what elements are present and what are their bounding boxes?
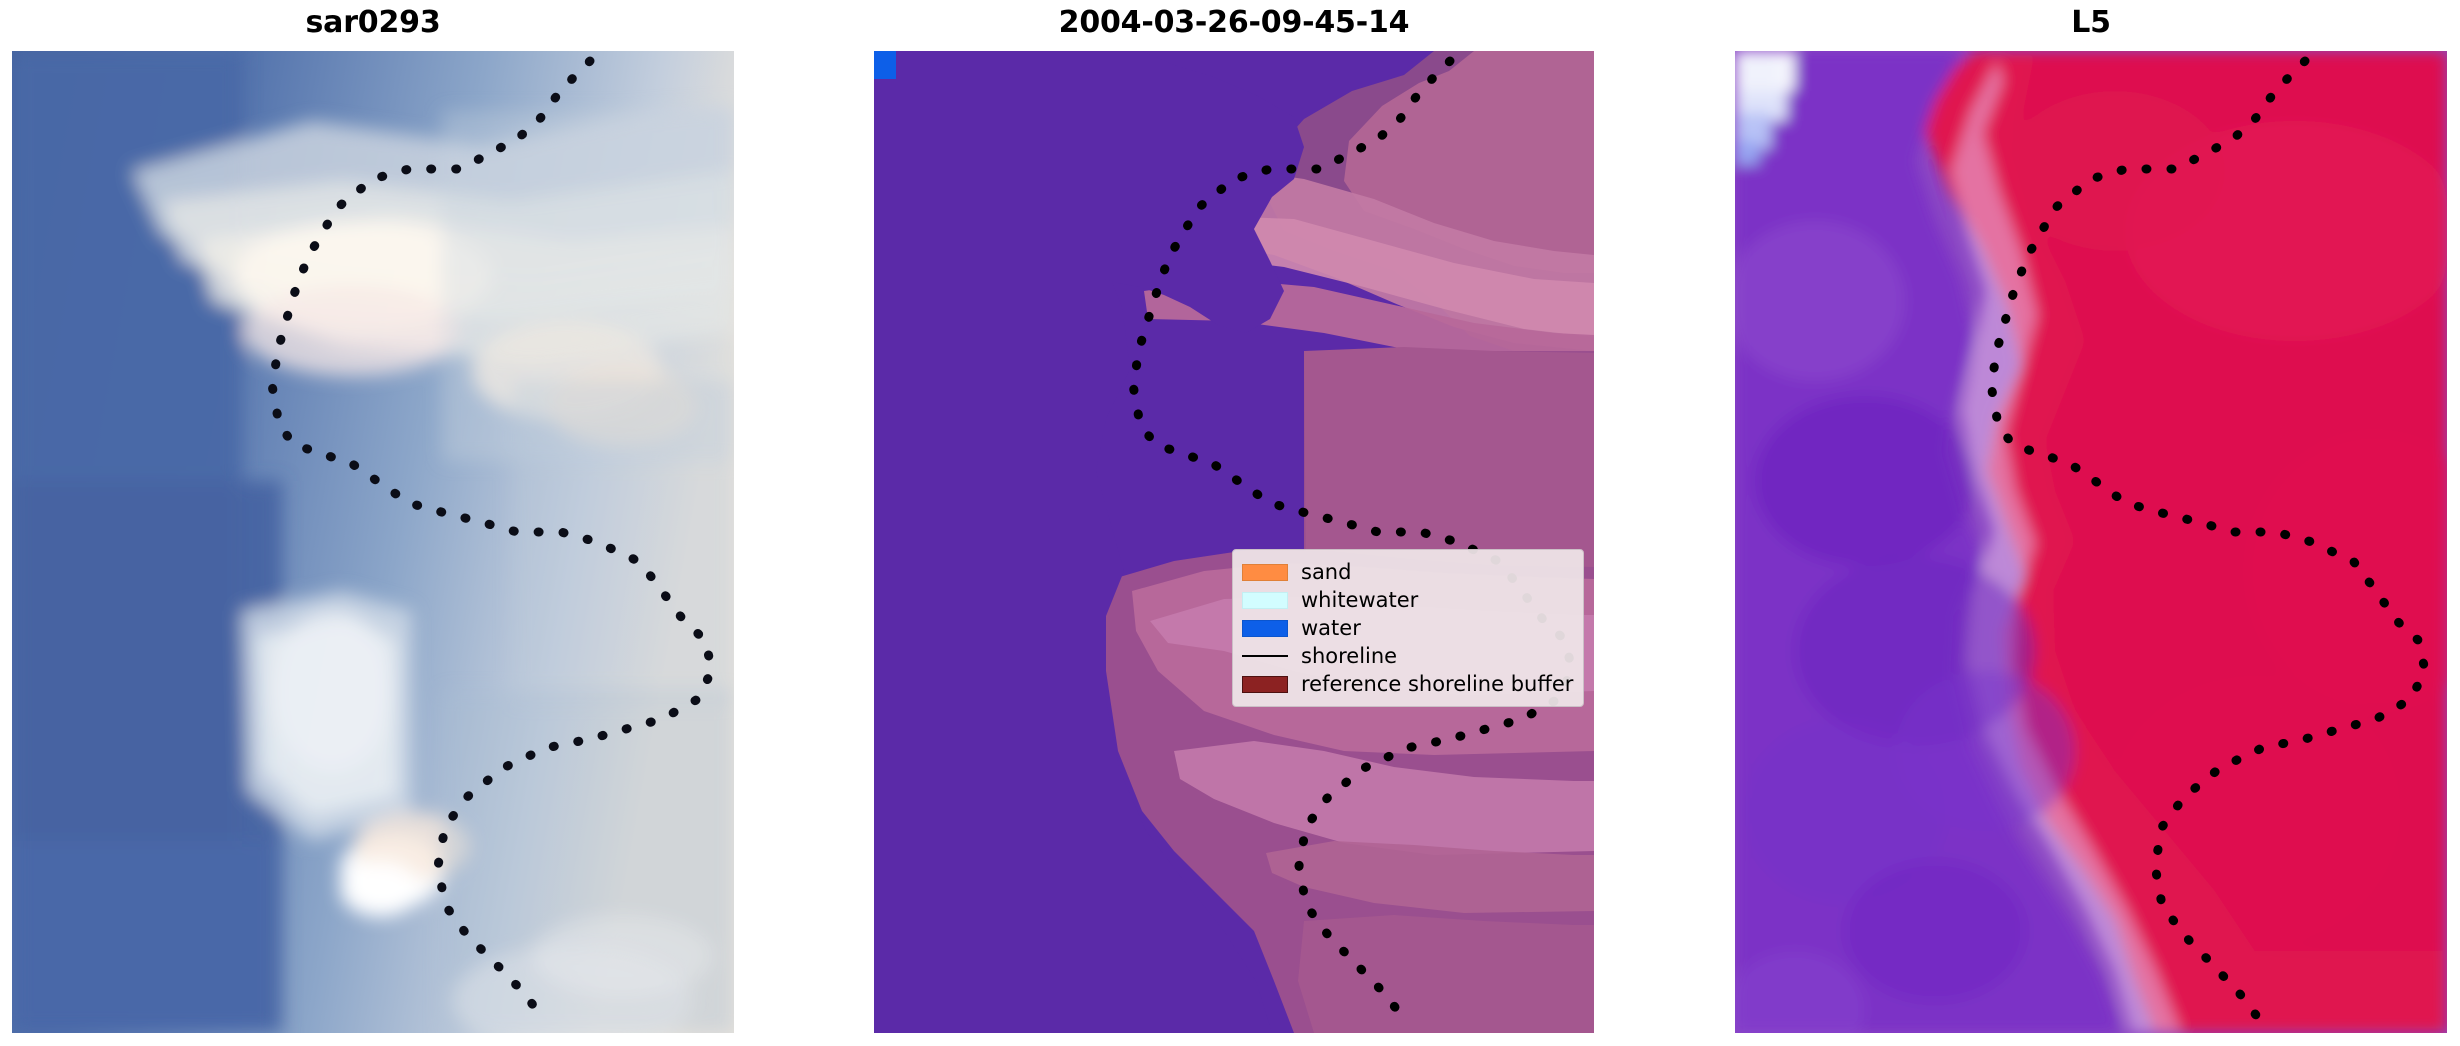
- legend-item-shoreline[interactable]: shoreline: [1242, 642, 1573, 670]
- legend-item-reference-buffer[interactable]: reference shoreline buffer: [1242, 670, 1573, 698]
- panel-sar0293: sar0293: [12, 0, 734, 1046]
- sar-shoreline-overlay: [12, 51, 734, 1033]
- water-swatch-icon: [1242, 620, 1288, 637]
- panel-title-sar: sar0293: [12, 6, 734, 40]
- sand-swatch-icon: [1242, 564, 1288, 581]
- panel-classification: 2004-03-26-09-45-14: [874, 0, 1594, 1046]
- axes-l5[interactable]: [1735, 51, 2447, 1033]
- legend-label-reference-buffer: reference shoreline buffer: [1301, 674, 1573, 695]
- legend-box[interactable]: sand whitewater water shoreline referenc…: [1232, 549, 1584, 707]
- reference-buffer-swatch-icon: [1242, 676, 1288, 693]
- legend-item-whitewater[interactable]: whitewater: [1242, 586, 1573, 614]
- legend-label-whitewater: whitewater: [1301, 590, 1418, 611]
- l5-shoreline-overlay: [1735, 51, 2447, 1033]
- shoreline-polyline: [272, 61, 712, 1023]
- whitewater-swatch-icon: [1242, 592, 1288, 609]
- legend-item-water[interactable]: water: [1242, 614, 1573, 642]
- panel-title-classification: 2004-03-26-09-45-14: [874, 6, 1594, 40]
- panel-title-l5: L5: [1735, 6, 2447, 40]
- axes-sar[interactable]: [12, 51, 734, 1033]
- legend-item-sand[interactable]: sand: [1242, 558, 1573, 586]
- figure-canvas: sar0293: [0, 0, 2460, 1046]
- legend-label-water: water: [1301, 618, 1361, 639]
- legend-label-sand: sand: [1301, 562, 1351, 583]
- axes-classification[interactable]: sand whitewater water shoreline referenc…: [874, 51, 1594, 1033]
- shoreline-polyline: [1991, 61, 2425, 1023]
- shoreline-line-icon: [1242, 648, 1288, 665]
- classification-shoreline-overlay: [874, 51, 1594, 1033]
- legend-label-shoreline: shoreline: [1301, 646, 1397, 667]
- shoreline-polyline: [1133, 61, 1572, 1023]
- panel-l5: L5: [1735, 0, 2447, 1046]
